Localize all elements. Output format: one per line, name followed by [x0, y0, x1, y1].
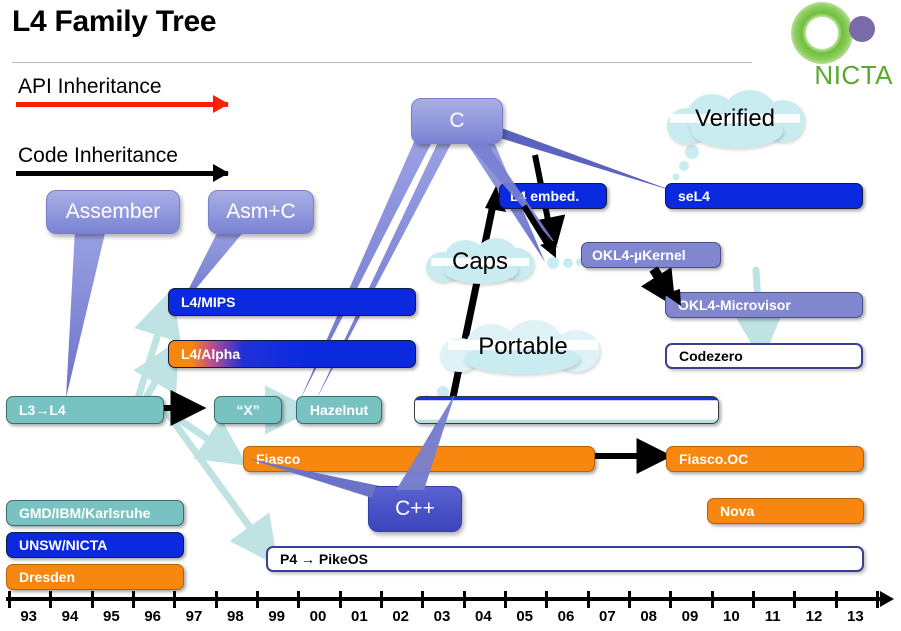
timeline-year-label: 11 [758, 608, 788, 625]
node-hazelnut-label: Hazelnut [310, 402, 368, 418]
timeline-tick [545, 591, 548, 608]
timeline-year-label: 01 [344, 608, 374, 625]
bubble-assember-label: Assember [66, 200, 161, 224]
timeline-tick [463, 591, 466, 608]
node-fiasco-oc[interactable]: Fiasco.OC [666, 446, 864, 472]
timeline-year-label: 93 [14, 608, 44, 625]
timeline-tick [711, 591, 714, 608]
timeline-arrowhead-icon [880, 591, 894, 607]
timeline-year-label: 10 [716, 608, 746, 625]
timeline-tick [215, 591, 218, 608]
node-x-label: “X” [236, 402, 259, 418]
legend-code-inheritance-label: Code Inheritance [18, 144, 178, 168]
timeline-tick [835, 591, 838, 608]
node-p4-pikeos[interactable]: P4 → PikeOS [266, 546, 864, 572]
nicta-logo: NICTA [783, 2, 893, 94]
bubble-cpp-label: C++ [395, 497, 435, 521]
node-l4-alpha[interactable]: L4/Alpha [168, 340, 416, 368]
timeline-year-label: 12 [799, 608, 829, 625]
legend-origin-gmd-label: GMD/IBM/Karlsruhe [19, 505, 150, 521]
legend-origin-dresden: Dresden [6, 564, 184, 590]
node-x[interactable]: “X” [214, 396, 282, 424]
legend-api-inheritance-label: API Inheritance [18, 75, 162, 99]
node-l3-to-l4[interactable]: L3→L4 [6, 396, 164, 424]
timeline-year-label: 02 [386, 608, 416, 625]
timeline-year-label: 00 [303, 608, 333, 625]
assember-bubble-tails [66, 229, 122, 398]
node-l3-to-l4-label: L3→L4 [19, 402, 66, 418]
timeline-tick [256, 591, 259, 608]
timeline-tick [91, 591, 94, 608]
node-l4-mips-label: L4/MIPS [181, 294, 235, 310]
legend-origin-gmd: GMD/IBM/Karlsruhe [6, 500, 184, 526]
node-l4-embed-label: L4 embed. [510, 188, 579, 204]
cloud-portable-label: Portable [438, 318, 608, 376]
node-okl4-ukernel-label: OKL4-µKernel [592, 247, 686, 263]
timeline-tick [297, 591, 300, 608]
timeline-tick [793, 591, 796, 608]
bubble-c: C [411, 98, 503, 144]
timeline-tick [421, 591, 424, 608]
bubble-asm-c-label: Asm+C [226, 200, 295, 224]
node-codezero-label: Codezero [679, 348, 743, 364]
timeline-year-label: 96 [138, 608, 168, 625]
timeline-year-label: 08 [634, 608, 664, 625]
cloud-caps: Caps [424, 236, 536, 288]
cloud-verified: Verified [661, 88, 809, 150]
logo-white-dot-icon [806, 17, 838, 49]
node-p4-pikeos-label: P4 → PikeOS [280, 551, 368, 567]
timeline-year-label: 09 [675, 608, 705, 625]
legend-code-inheritance-arrow [16, 170, 228, 176]
timeline-year-label: 04 [468, 608, 498, 625]
timeline-year-label: 98 [220, 608, 250, 625]
node-nova[interactable]: Nova [707, 498, 864, 524]
bubble-asm-c: Asm+C [208, 190, 314, 234]
timeline-year-label: 13 [840, 608, 870, 625]
logo-wordmark: NICTA [783, 60, 893, 91]
timeline-tick [339, 591, 342, 608]
cloud-portable: Portable [438, 318, 608, 376]
node-okl4-microvisor[interactable]: OKL4-Microvisor [665, 292, 863, 318]
legend-origin-unsw: UNSW/NICTA [6, 532, 184, 558]
node-sel4-label: seL4 [678, 188, 710, 204]
timeline-year-label: 94 [55, 608, 85, 625]
legend-origin-dresden-label: Dresden [19, 569, 75, 585]
title-divider [12, 62, 752, 63]
timeline-year-label: 95 [96, 608, 126, 625]
node-fiasco[interactable]: Fiasco [243, 446, 595, 472]
cloud-verified-label: Verified [661, 88, 809, 150]
timeline-tick [8, 591, 11, 608]
timeline-year-label: 97 [179, 608, 209, 625]
timeline-tick [876, 591, 879, 608]
bubble-cpp: C++ [368, 486, 462, 532]
legend-origin-unsw-label: UNSW/NICTA [19, 537, 107, 553]
timeline-year-label: 07 [592, 608, 622, 625]
legend-api-inheritance-arrow [16, 101, 228, 107]
timeline-tick [380, 591, 383, 608]
timeline-tick [752, 591, 755, 608]
timeline-tick [669, 591, 672, 608]
timeline-year-label: 99 [262, 608, 292, 625]
node-sel4[interactable]: seL4 [665, 183, 863, 209]
node-l4-mips[interactable]: L4/MIPS [168, 288, 416, 316]
bubble-c-label: C [449, 109, 464, 133]
timeline-tick [504, 591, 507, 608]
timeline-tick [49, 591, 52, 608]
timeline-year-label: 06 [551, 608, 581, 625]
node-hazelnut[interactable]: Hazelnut [296, 396, 382, 424]
timeline-tick [587, 591, 590, 608]
timeline-year-label: 03 [427, 608, 457, 625]
bubble-assember: Assember [46, 190, 180, 234]
node-nova-label: Nova [720, 503, 754, 519]
node-l4-embed[interactable]: L4 embed. [499, 183, 607, 209]
timeline-tick [173, 591, 176, 608]
cloud-caps-label: Caps [424, 236, 536, 288]
slide-canvas: L4 Family Tree NICTA API Inheritance Cod… [0, 0, 901, 631]
timeline-tick [132, 591, 135, 608]
node-codezero[interactable]: Codezero [665, 343, 863, 369]
timeline-year-label: 05 [510, 608, 540, 625]
timeline-tick [628, 591, 631, 608]
logo-purple-dot-icon [849, 16, 875, 42]
node-fiasco-oc-label: Fiasco.OC [679, 451, 748, 467]
page-title: L4 Family Tree [12, 5, 216, 39]
node-fiasco-label: Fiasco [256, 451, 300, 467]
node-unlabeled-pistachio[interactable] [414, 396, 719, 424]
node-l4-alpha-label: L4/Alpha [181, 346, 240, 362]
node-okl4-microvisor-label: OKL4-Microvisor [678, 297, 791, 313]
node-okl4-ukernel[interactable]: OKL4-µKernel [581, 242, 721, 268]
